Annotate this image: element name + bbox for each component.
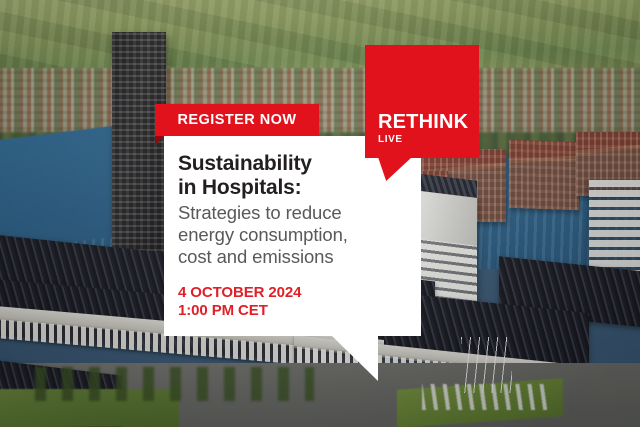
- card-content: Sustainability in Hospitals: Strategies …: [178, 152, 403, 320]
- live-wordmark: LIVE: [378, 135, 473, 145]
- event-datetime: 4 OCTOBER 2024 1:00 PM CET: [178, 284, 403, 320]
- register-now-label: REGISTER NOW: [178, 112, 297, 128]
- rethink-wordmark: RETHINK: [378, 112, 473, 132]
- rethink-live-logo: RETHINK LIVE: [365, 45, 479, 158]
- page-title: Sustainability in Hospitals:: [178, 152, 403, 199]
- webinar-promo-banner: REGISTER NOW RETHINK LIVE Sustainability…: [0, 0, 640, 427]
- flagpoles: [461, 337, 512, 393]
- headline-line-1: Sustainability: [178, 152, 403, 176]
- register-now-button[interactable]: REGISTER NOW: [155, 104, 319, 136]
- subhead-line-3: cost and emissions: [178, 246, 403, 268]
- rethink-live-logo-text: RETHINK LIVE: [378, 112, 473, 145]
- dark-tower-building: [112, 32, 166, 263]
- event-time: 1:00 PM CET: [178, 302, 403, 320]
- headline-line-2: in Hospitals:: [178, 176, 403, 200]
- page-subtitle: Strategies to reduce energy consumption,…: [178, 202, 403, 267]
- event-date: 4 OCTOBER 2024: [178, 284, 403, 302]
- brick-building-2: [509, 140, 579, 211]
- subhead-line-1: Strategies to reduce: [178, 202, 403, 224]
- subhead-line-2: energy consumption,: [178, 224, 403, 246]
- street-trees: [19, 367, 313, 401]
